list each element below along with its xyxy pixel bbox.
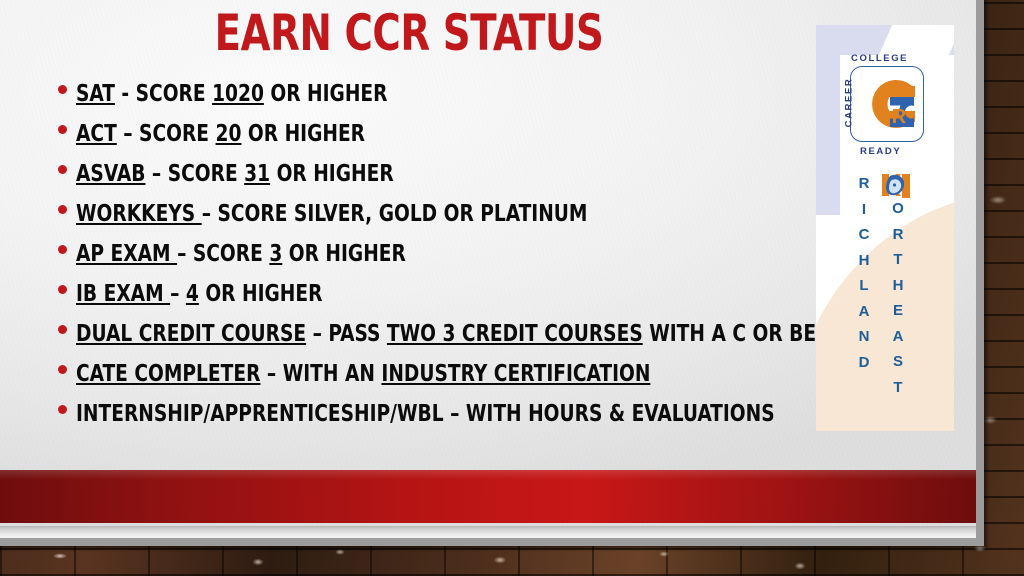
list-item-label: WORKKEYS – SCORE SILVER, GOLD OR PLATINU… (76, 202, 587, 227)
seg-underline: DUAL CREDIT COURSE (76, 321, 306, 347)
red-banner-highlight (0, 470, 976, 480)
seg-underline: SAT (76, 81, 115, 107)
seg-plain: – PASS (306, 321, 387, 347)
list-item-workkeys: WORKKEYS – SCORE SILVER, GOLD OR PLATINU… (57, 194, 847, 234)
ccr-label-college: COLLEGE (851, 53, 908, 64)
seg-plain: – SCORE (177, 241, 269, 267)
ccr-label-ready: READY (860, 146, 901, 157)
slide-frame: EARN CCR STATUS SAT - SCORE 1020 OR HIGH… (0, 0, 984, 546)
list-item-sat: SAT - SCORE 1020 OR HIGHER (57, 74, 847, 114)
bullet-dot-icon (58, 365, 67, 374)
list-item-ib-exam: IB EXAM – 4 OR HIGHER (57, 274, 847, 314)
seg-underline: 20 (216, 121, 242, 147)
bullet-dot-icon (58, 85, 67, 94)
svg-text:R: R (892, 106, 907, 128)
list-item-label: SAT - SCORE 1020 OR HIGHER (76, 82, 387, 107)
school-name-northeast: ORTHEAST (888, 196, 908, 400)
list-item-label: AP EXAM – SCORE 3 OR HIGHER (76, 242, 406, 267)
seg-underline: 3 (269, 241, 282, 267)
seg-underline: 31 (244, 161, 270, 187)
ccr-letter-r-icon: R (876, 91, 918, 135)
list-item-label: ASVAB – SCORE 31 OR HIGHER (76, 162, 394, 187)
panel-background-lavender-left (816, 25, 840, 215)
list-item-ap-exam: AP EXAM – SCORE 3 OR HIGHER (57, 234, 847, 274)
bullet-dot-icon (58, 325, 67, 334)
bullet-dot-icon (58, 245, 67, 254)
seg-underline: WORKKEYS (76, 201, 202, 227)
seg-plain: INTERNSHIP/APPRENTICESHIP/WBL – WITH HOU… (76, 401, 775, 427)
bullet-dot-icon (58, 165, 67, 174)
seg-underline: AP EXAM (76, 241, 177, 267)
seg-plain: – (170, 281, 186, 307)
seg-plain: – SCORE SILVER, GOLD OR PLATINUM (202, 201, 588, 227)
seg-plain: OR HIGHER (270, 161, 394, 187)
list-item-act: ACT – SCORE 20 OR HIGHER (57, 114, 847, 154)
seg-plain: OR HIGHER (199, 281, 323, 307)
seg-plain: – SCORE (117, 121, 216, 147)
list-item-label: CATE COMPLETER – WITH AN INDUSTRY CERTIF… (76, 362, 650, 387)
slide-bottom-ledge (0, 526, 976, 538)
list-item-asvab: ASVAB – SCORE 31 OR HIGHER (57, 154, 847, 194)
seg-plain: – WITH AN (260, 361, 381, 387)
seg-underline: 1020 (212, 81, 264, 107)
seg-plain: – SCORE (145, 161, 244, 187)
bullet-dot-icon (58, 285, 67, 294)
list-item-label: ACT – SCORE 20 OR HIGHER (76, 122, 365, 147)
seg-underline: TWO 3 CREDIT COURSES (387, 321, 643, 347)
ccr-logo: R COLLEGE CAREER READY (840, 53, 932, 158)
seg-underline: ASVAB (76, 161, 145, 187)
list-item-label: IB EXAM – 4 OR HIGHER (76, 282, 322, 307)
seg-underline: CATE COMPLETER (76, 361, 260, 387)
list-item-cate-completer: CATE COMPLETER – WITH AN INDUSTRY CERTIF… (57, 354, 847, 394)
seg-underline: INDUSTRY CERTIFICATION (381, 361, 650, 387)
list-item-label: DUAL CREDIT COURSE – PASS TWO 3 CREDIT C… (76, 322, 869, 347)
logo-panel: R COLLEGE CAREER READY RICHLAND ORTHEAST (816, 25, 954, 431)
list-item-dual-credit: DUAL CREDIT COURSE – PASS TWO 3 CREDIT C… (57, 314, 847, 354)
seg-underline: ACT (76, 121, 117, 147)
bullet-dot-icon (58, 125, 67, 134)
bullet-list: SAT - SCORE 1020 OR HIGHER ACT – SCORE 2… (57, 74, 847, 434)
red-banner (0, 470, 976, 523)
seg-plain: OR HIGHER (264, 81, 388, 107)
seg-plain: OR HIGHER (241, 121, 365, 147)
list-item-label: INTERNSHIP/APPRENTICESHIP/WBL – WITH HOU… (76, 402, 775, 427)
bullet-dot-icon (58, 205, 67, 214)
school-name-richland: RICHLAND (854, 171, 874, 375)
page-title: EARN CCR STATUS (52, 7, 766, 59)
slide-stage: EARN CCR STATUS SAT - SCORE 1020 OR HIGH… (0, 0, 1024, 576)
seg-plain: - SCORE (115, 81, 212, 107)
slide-canvas: EARN CCR STATUS SAT - SCORE 1020 OR HIGH… (0, 0, 976, 538)
list-item-internship: INTERNSHIP/APPRENTICESHIP/WBL – WITH HOU… (57, 394, 847, 434)
bullet-dot-icon (58, 405, 67, 414)
seg-plain: OR HIGHER (282, 241, 406, 267)
ccr-label-career: CAREER (844, 72, 855, 134)
cavalier-mascot-n-icon (880, 171, 912, 201)
seg-underline: IB EXAM (76, 281, 170, 307)
seg-underline: 4 (186, 281, 199, 307)
